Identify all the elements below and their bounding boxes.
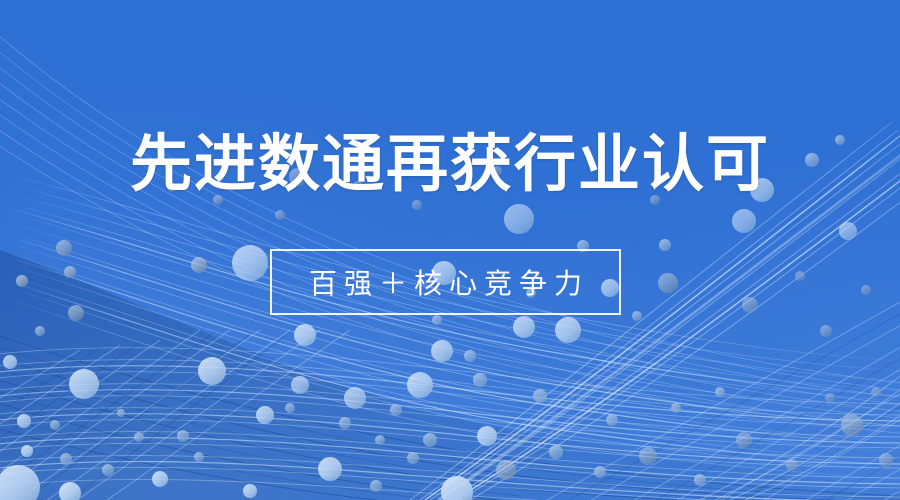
subtitle-badge: 百强＋核心竞争力 <box>270 249 621 315</box>
banner-text-content: 先进数通再获行业认可 百强＋核心竞争力 <box>0 0 900 500</box>
subtitle-badge-label: 百强＋核心竞争力 <box>302 262 589 302</box>
banner-graphic: 先进数通再获行业认可 百强＋核心竞争力 <box>0 0 900 500</box>
page-title: 先进数通再获行业认可 <box>0 132 900 199</box>
